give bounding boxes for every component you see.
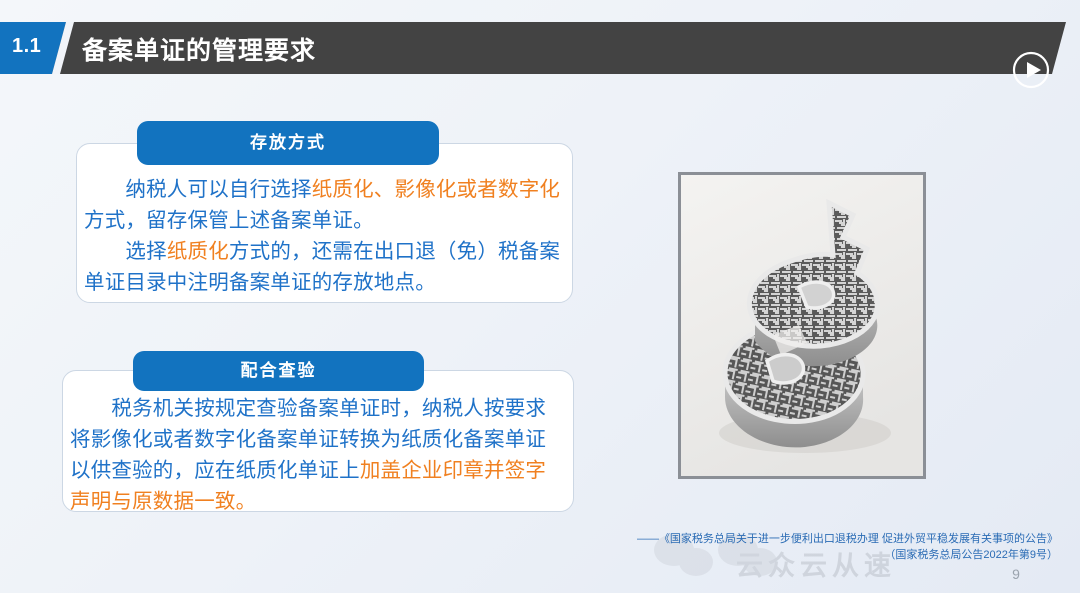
slide-header: 1.1 备案单证的管理要求 <box>0 22 1080 74</box>
card-storage-title: 存放方式 <box>137 121 439 165</box>
card-inspection-title: 配合查验 <box>133 351 424 391</box>
text-segment: 纳税人可以自行选择 <box>84 178 312 201</box>
text-segment: 选择 <box>84 240 167 263</box>
dollar-sign-maze-graphic <box>681 175 923 476</box>
text-segment: 纸质化、影像化或者数字化 <box>312 178 560 201</box>
dollar-sign-maze-image <box>678 172 926 479</box>
page-title: 备案单证的管理要求 <box>82 31 316 67</box>
citation-line-2: （国家税务总局公告2022年第9号） <box>618 547 1058 563</box>
text-segment: 方式，留存保管上述备案单证。 <box>84 209 374 232</box>
slide-canvas: 1.1 备案单证的管理要求 存放方式 纳税人可以自行选择纸质化、影像化或者数字化… <box>0 0 1080 593</box>
play-circle-icon[interactable] <box>1010 49 1052 91</box>
card-inspection-body: 税务机关按规定查验备案单证时，纳税人按要求将影像化或者数字化备案单证转换为纸质化… <box>70 393 565 517</box>
text-segment: 纸质化 <box>167 240 229 263</box>
page-number: 9 <box>1004 566 1028 582</box>
section-number-label: 1.1 <box>12 35 41 58</box>
card-storage-body: 纳税人可以自行选择纸质化、影像化或者数字化方式，留存保管上述备案单证。 选择纸质… <box>84 174 569 298</box>
citation-line-1: ——《国家税务总局关于进一步便利出口退税办理 促进外贸平稳发展有关事项的公告》 <box>618 531 1058 547</box>
citation: ——《国家税务总局关于进一步便利出口退税办理 促进外贸平稳发展有关事项的公告》 … <box>618 531 1058 563</box>
